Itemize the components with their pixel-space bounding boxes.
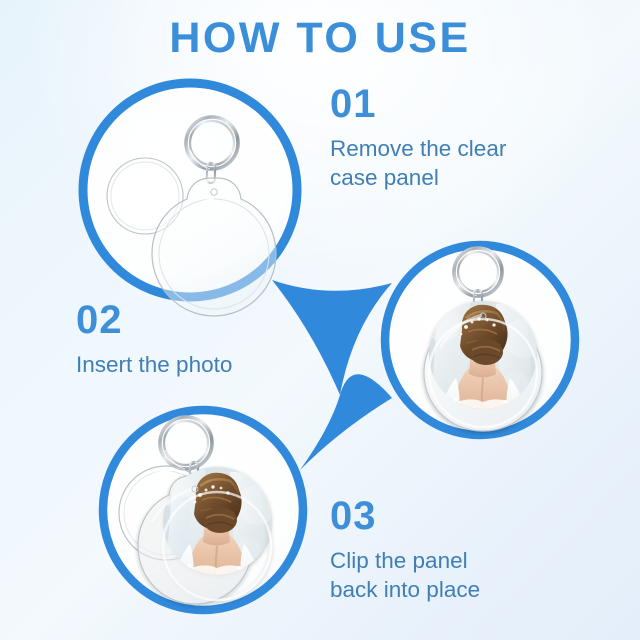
step-3-text-block: 03 Clip the panel back into place [330,496,480,605]
step-1-number: 01 [330,84,506,124]
step-1-description: Remove the clear case panel [330,135,506,193]
step-2-number: 02 [76,300,232,340]
step-3-description: Clip the panel back into place [330,547,480,605]
step-3-illustration-circle [103,410,303,610]
how-to-use-infographic: HOW TO USE [0,0,640,640]
step-1-text-block: 01 Remove the clear case panel [330,84,506,193]
step-2-illustration-circle [385,245,575,435]
connector-ribbon-1-to-2 [272,280,392,395]
step-2-text-block: 02 Insert the photo [76,300,232,380]
step-1-illustration-circle [83,83,297,316]
step-2-description: Insert the photo [76,351,232,380]
step-3-number: 03 [330,496,480,536]
connector-ribbon-2-to-3 [300,374,392,470]
